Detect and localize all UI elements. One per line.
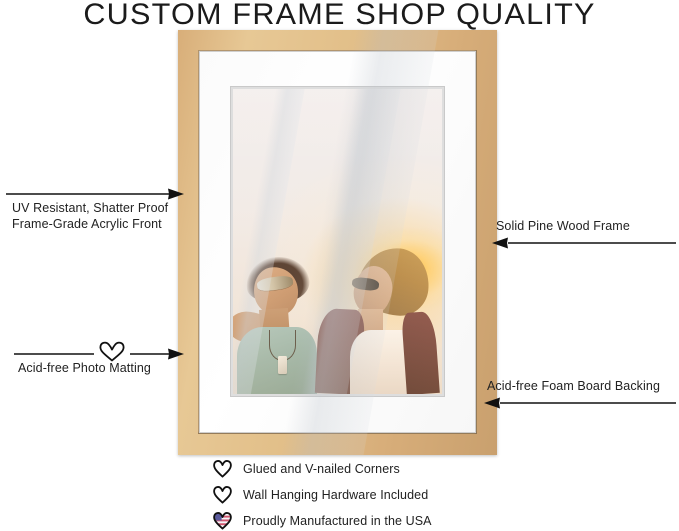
arrow-left-icon <box>492 237 676 249</box>
annotation-line-1: Acid-free Photo Matting <box>6 361 186 376</box>
arrow-left-icon <box>484 397 676 409</box>
feature-bullet-list: Glued and V-nailed Corners Wall Hanging … <box>212 458 432 531</box>
annotation-line-1: UV Resistant, Shatter Proof <box>6 201 186 216</box>
arrow-right-matting <box>6 340 184 362</box>
heart-icon <box>212 485 233 504</box>
heart-icon <box>100 343 123 361</box>
arrow-left-foam <box>484 397 676 409</box>
arrow-right-acrylic <box>6 188 184 200</box>
annotation-acrylic-front: UV Resistant, Shatter Proof Frame-Grade … <box>6 188 186 233</box>
arrow-right-icon <box>6 188 184 200</box>
list-item-label: Glued and V-nailed Corners <box>243 462 400 476</box>
list-item: Glued and V-nailed Corners <box>212 458 432 479</box>
framed-photo <box>233 89 442 394</box>
annotation-pine-frame: Solid Pine Wood Frame <box>492 219 678 249</box>
list-item: Proudly Manufactured in the USA <box>212 510 432 531</box>
annotation-photo-matting: Acid-free Photo Matting <box>6 340 186 376</box>
photo-mat <box>200 52 475 432</box>
mat-bevel <box>231 87 444 396</box>
list-item: Wall Hanging Hardware Included <box>212 484 432 505</box>
arrow-right-with-heart <box>6 340 184 362</box>
heart-flag-usa-icon <box>212 511 233 530</box>
arrow-left-pine <box>492 237 676 249</box>
picture-frame <box>178 30 497 455</box>
annotation-line-1: Acid-free Foam Board Backing <box>484 379 679 394</box>
annotation-foam-backing: Acid-free Foam Board Backing <box>484 379 679 409</box>
heart-icon <box>212 459 233 478</box>
product-infographic: CUSTOM FRAME SHOP QUALITY <box>0 0 679 530</box>
list-item-label: Wall Hanging Hardware Included <box>243 488 428 502</box>
list-item-label: Proudly Manufactured in the USA <box>243 514 432 528</box>
page-title: CUSTOM FRAME SHOP QUALITY <box>0 0 679 32</box>
annotation-line-1: Solid Pine Wood Frame <box>492 219 678 234</box>
annotation-line-2: Frame-Grade Acrylic Front <box>6 217 186 232</box>
photo-warm-haze <box>233 89 442 394</box>
